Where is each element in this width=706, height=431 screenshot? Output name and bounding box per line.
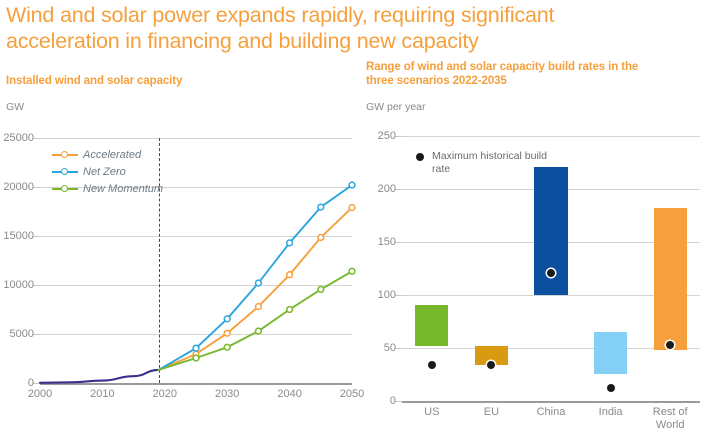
data-point-marker	[349, 182, 355, 188]
y-tick-mark	[395, 295, 402, 296]
x-axis-tick-label: 2010	[90, 388, 114, 401]
y-tick-mark	[395, 189, 402, 190]
page-title: Wind and solar power expands rapidly, re…	[6, 2, 646, 54]
range-bar-us[interactable]	[415, 305, 448, 346]
line-chart-plot-area: 0500010000150002000025000200020102020203…	[40, 138, 352, 383]
x-axis-category-label: US	[403, 406, 460, 419]
max-historical-build-rate-dot[interactable]	[547, 269, 555, 277]
line-series-historical	[40, 370, 159, 383]
data-point-marker	[193, 355, 199, 361]
y-axis-tick-label: 15000	[3, 230, 34, 242]
right-chart-title: Range of wind and solar capacity build r…	[366, 60, 666, 88]
y-tick-mark	[33, 285, 40, 286]
max-historical-build-rate-dot[interactable]	[428, 361, 436, 369]
data-point-marker	[318, 235, 324, 241]
legend-line-swatch	[52, 183, 78, 194]
legend-line-swatch	[52, 149, 78, 160]
data-point-marker	[256, 280, 262, 286]
max-historical-build-rate-dot[interactable]	[666, 341, 674, 349]
x-axis-tick-label: 2020	[153, 388, 177, 401]
legend-line-swatch	[52, 166, 78, 177]
data-point-marker	[256, 304, 262, 310]
data-point-marker	[349, 205, 355, 211]
x-axis-category-label: EU	[463, 406, 520, 419]
y-axis-tick-label: 250	[378, 130, 396, 142]
y-tick-mark	[33, 383, 40, 384]
legend-item-label: New Momentum	[83, 183, 163, 195]
y-tick-mark	[33, 138, 40, 139]
data-point-marker	[287, 307, 293, 313]
y-axis-tick-label: 100	[378, 289, 396, 301]
legend-item-label: Accelerated	[83, 149, 141, 161]
y-axis-tick-label: 50	[384, 342, 396, 354]
legend-item-net-zero[interactable]: Net Zero	[52, 164, 163, 179]
range-bar-chart: 050100150200250USEUChinaIndiaRest of Wor…	[360, 118, 706, 420]
x-axis-tick-label: 2000	[28, 388, 52, 401]
line-series-net-zero	[159, 185, 352, 370]
data-point-marker	[318, 287, 324, 293]
data-point-marker	[318, 204, 324, 210]
left-chart-title: Installed wind and solar capacity	[6, 74, 336, 88]
data-point-marker	[287, 272, 293, 278]
data-point-marker	[224, 330, 230, 336]
y-tick-mark	[33, 187, 40, 188]
range-bar-rest-of-world[interactable]	[654, 208, 687, 350]
x-axis-category-label: Rest of World	[642, 406, 699, 431]
bar-chart-legend: Maximum historical build rate	[416, 150, 566, 175]
data-point-marker	[193, 345, 199, 351]
y-axis-tick-label: 5000	[10, 328, 34, 340]
left-chart-unit: GW	[6, 101, 24, 113]
data-point-marker	[287, 240, 293, 246]
legend-label: Maximum historical build rate	[432, 150, 566, 175]
data-point-marker	[224, 316, 230, 322]
x-axis-tick-label: 2040	[277, 388, 301, 401]
y-tick-mark	[395, 348, 402, 349]
data-point-marker	[256, 328, 262, 334]
y-axis-tick-label: 0	[390, 395, 396, 407]
x-axis-line	[402, 401, 700, 403]
x-axis-tick-label: 2030	[215, 388, 239, 401]
range-bar-chart-plot-area: 050100150200250USEUChinaIndiaRest of Wor…	[402, 136, 700, 401]
x-axis-line	[40, 383, 352, 385]
infographic-root: Wind and solar power expands rapidly, re…	[0, 0, 706, 420]
y-axis-tick-label: 10000	[3, 279, 34, 291]
range-bar-india[interactable]	[594, 332, 627, 374]
y-axis-tick-label: 20000	[3, 181, 34, 193]
legend-item-accelerated[interactable]: Accelerated	[52, 147, 163, 162]
line-chart: 0500010000150002000025000200020102020203…	[0, 118, 360, 420]
y-tick-mark	[395, 136, 402, 137]
data-point-marker	[224, 344, 230, 350]
x-axis-category-label: India	[582, 406, 639, 419]
legend-item-new-momentum[interactable]: New Momentum	[52, 181, 163, 196]
y-axis-tick-label: 150	[378, 236, 396, 248]
x-axis-category-label: China	[523, 406, 580, 419]
y-tick-mark	[395, 242, 402, 243]
y-tick-mark	[33, 334, 40, 335]
y-tick-mark	[33, 236, 40, 237]
gridline	[402, 136, 700, 137]
max-historical-build-rate-dot[interactable]	[487, 361, 495, 369]
data-point-marker	[349, 268, 355, 274]
legend-dot-icon	[416, 153, 424, 161]
y-axis-tick-label: 200	[378, 183, 396, 195]
y-axis-tick-label: 25000	[3, 132, 34, 144]
legend-item-label: Net Zero	[83, 166, 126, 178]
line-chart-legend: AcceleratedNet ZeroNew Momentum	[52, 147, 163, 198]
y-tick-mark	[395, 401, 402, 402]
max-historical-build-rate-dot[interactable]	[607, 384, 615, 392]
right-chart-unit: GW per year	[366, 101, 426, 113]
